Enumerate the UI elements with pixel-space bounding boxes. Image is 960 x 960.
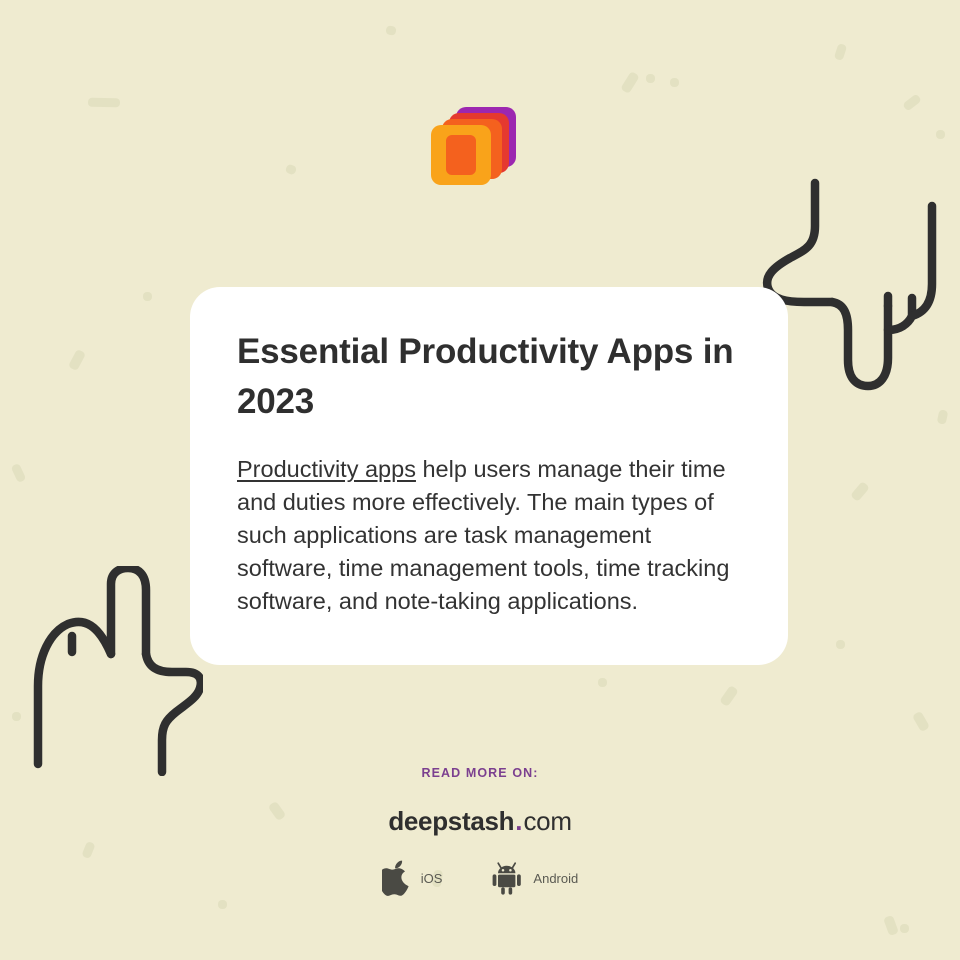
card-title: Essential Productivity Apps in 2023 — [237, 327, 737, 427]
confetti-speck — [218, 900, 227, 909]
confetti-speck — [598, 678, 607, 687]
confetti-speck — [670, 78, 679, 87]
brand-name: deepstash — [388, 806, 514, 836]
confetti-speck — [143, 292, 152, 301]
brand-wordmark: deepstash.com — [0, 808, 960, 834]
confetti-speck — [900, 924, 909, 933]
apple-icon — [382, 860, 412, 896]
pointing-up-hand — [28, 566, 203, 776]
brand-tld: com — [523, 806, 571, 836]
android-store-badge[interactable]: Android — [490, 861, 578, 895]
deepstash-share-card: Essential Productivity Apps in 2023 Prod… — [0, 0, 960, 960]
confetti-speck — [836, 640, 845, 649]
confetti-speck — [646, 74, 655, 83]
confetti-speck — [902, 93, 922, 111]
confetti-speck — [719, 685, 739, 707]
confetti-speck — [11, 463, 27, 483]
productivity-apps-link[interactable]: Productivity apps — [237, 456, 416, 482]
card-body: Productivity apps help users manage thei… — [237, 453, 740, 618]
confetti-speck — [68, 349, 86, 371]
android-label: Android — [533, 871, 578, 886]
confetti-speck — [883, 915, 899, 936]
content-card: Essential Productivity Apps in 2023 Prod… — [190, 287, 788, 665]
confetti-speck — [850, 481, 870, 502]
deepstash-logo — [428, 103, 520, 195]
confetti-speck — [834, 43, 848, 61]
ios-label: iOS — [421, 871, 443, 886]
confetti-speck — [620, 71, 640, 94]
confetti-speck — [385, 25, 396, 36]
ios-store-badge[interactable]: iOS — [382, 860, 443, 896]
confetti-speck — [936, 130, 945, 139]
confetti-speck — [937, 409, 949, 425]
confetti-speck — [88, 98, 120, 108]
confetti-speck — [912, 711, 930, 732]
android-icon — [490, 861, 524, 895]
confetti-speck — [285, 164, 297, 176]
footer: READ MORE ON: deepstash.com iOS — [0, 766, 960, 896]
read-more-label: READ MORE ON: — [0, 766, 960, 780]
confetti-speck — [12, 712, 21, 721]
store-badges: iOS — [0, 860, 960, 896]
